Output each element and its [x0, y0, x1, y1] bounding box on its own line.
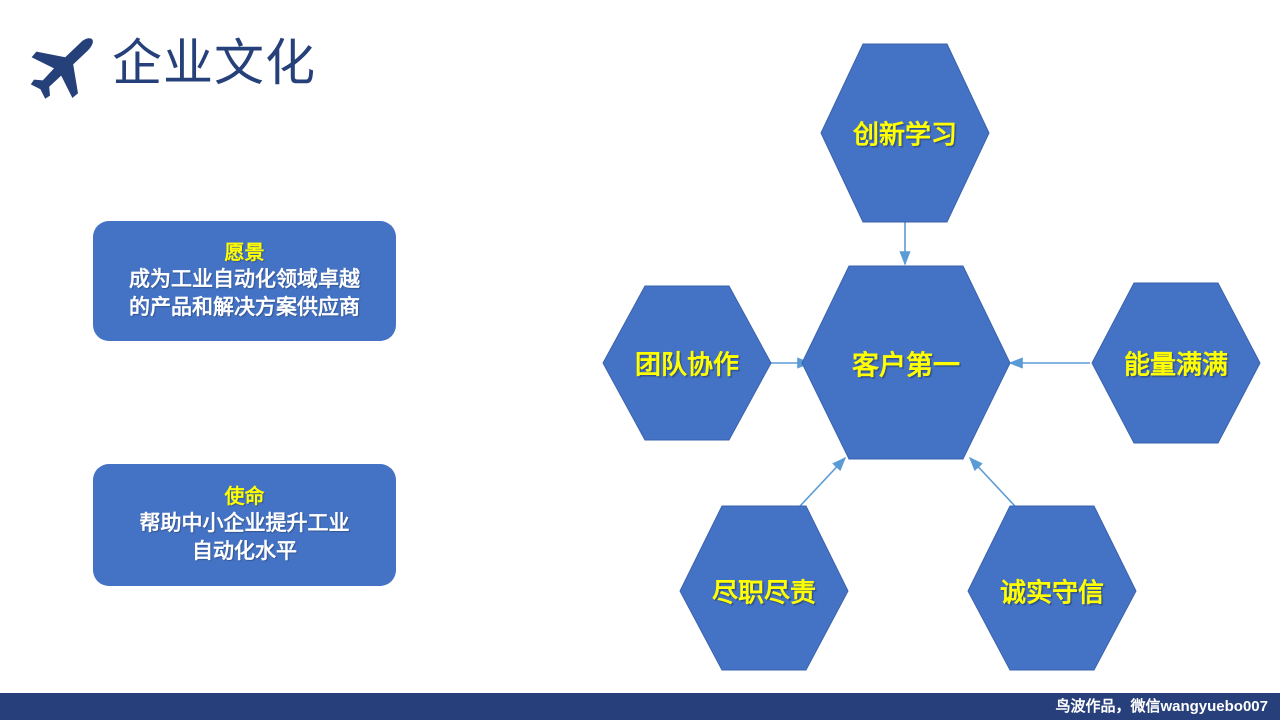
vision-card-body: 成为工业自动化领域卓越 的产品和解决方案供应商: [129, 266, 360, 322]
hexagon-due-diligence[interactable]: [680, 506, 848, 670]
slide-canvas: 企业文化 愿景 成为工业自动化领域卓越 的产品和解决方案供应商 使命 帮助中小企…: [0, 0, 1280, 720]
hexagon-team-collaboration[interactable]: [603, 286, 771, 440]
vision-card-heading: 愿景: [225, 240, 265, 266]
hexagon-customer-first[interactable]: [802, 266, 1010, 459]
footer-bar: 鸟波作品，微信wangyuebo007: [0, 693, 1280, 720]
culture-hexagon-diagram: 创新学习 团队协作 能量满满 客户第一 尽职尽责 诚实守信: [520, 0, 1280, 700]
footer-credit: 鸟波作品，微信wangyuebo007: [1055, 693, 1268, 720]
hexagon-diagram-svg: [520, 0, 1280, 700]
mission-card-heading: 使命: [225, 484, 265, 510]
hexagon-innovation-learning[interactable]: [821, 44, 989, 222]
mission-card-body: 帮助中小企业提升工业 自动化水平: [140, 510, 350, 566]
page-title: 企业文化: [112, 26, 316, 100]
hexagon-full-energy[interactable]: [1092, 283, 1260, 443]
mission-card: 使命 帮助中小企业提升工业 自动化水平: [93, 464, 396, 586]
airplane-icon: [22, 26, 102, 106]
hexagon-honesty-integrity[interactable]: [968, 506, 1136, 670]
vision-card: 愿景 成为工业自动化领域卓越 的产品和解决方案供应商: [93, 221, 396, 341]
